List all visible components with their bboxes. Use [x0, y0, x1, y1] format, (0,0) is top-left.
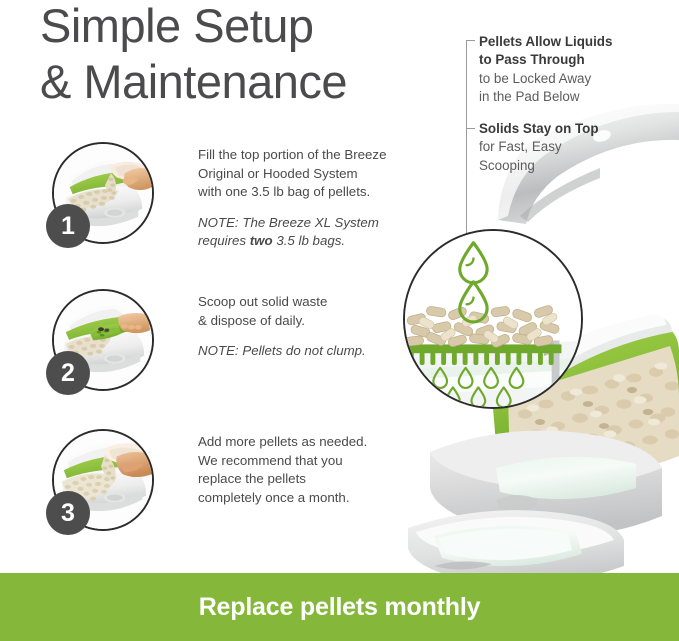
step-1-body: Fill the top portion of the Breeze Origi… — [198, 146, 456, 202]
step-2-number-badge: 2 — [46, 351, 90, 395]
step-1-note: NOTE: The Breeze XL System requires two … — [198, 214, 456, 251]
step-1-note-after: 3.5 lb bags. — [273, 233, 345, 248]
bottom-banner: Replace pellets monthly — [0, 573, 679, 641]
callout-liquids-sub: to be Locked Away in the Pad Below — [479, 70, 664, 107]
step-1: 1 Fill the top portion of the Breeze Ori… — [46, 140, 466, 260]
bottom-banner-text: Replace pellets monthly — [199, 593, 481, 622]
callout-tick-2 — [466, 128, 475, 129]
step-1-number-badge: 1 — [46, 204, 90, 248]
step-1-note-bold: two — [250, 233, 273, 248]
callout-liquids-heading: Pellets Allow Liquids to Pass Through — [479, 33, 664, 70]
infographic-page: Simple Setup & Maintenance — [0, 0, 679, 641]
callout-solids-sub: for Fast, Easy Scooping — [479, 138, 664, 175]
pellet-cross-section-magnifier — [403, 229, 583, 409]
step-3-body: Add more pellets as needed. We recommend… — [198, 433, 456, 507]
step-3: 3 Add more pellets as needed. We recomme… — [46, 427, 466, 547]
callout-liquids: Pellets Allow Liquids to Pass Through to… — [479, 33, 664, 107]
step-2-image-wrap: 2 — [46, 287, 158, 399]
callout-tick-1 — [466, 40, 475, 41]
page-title: Simple Setup & Maintenance — [40, 0, 460, 110]
step-3-text: Add more pellets as needed. We recommend… — [198, 433, 456, 507]
step-1-image-wrap: 1 — [46, 140, 158, 252]
callout-connector-line — [466, 40, 467, 252]
callout-solids-heading: Solids Stay on Top — [479, 120, 664, 138]
step-1-text: Fill the top portion of the Breeze Origi… — [198, 146, 456, 251]
callout-solids: Solids Stay on Top for Fast, Easy Scoopi… — [479, 120, 664, 175]
step-3-image-wrap: 3 — [46, 427, 158, 539]
step-3-number-badge: 3 — [46, 491, 90, 535]
step-2-note-before: NOTE: Pellets do not clump. — [198, 343, 366, 358]
